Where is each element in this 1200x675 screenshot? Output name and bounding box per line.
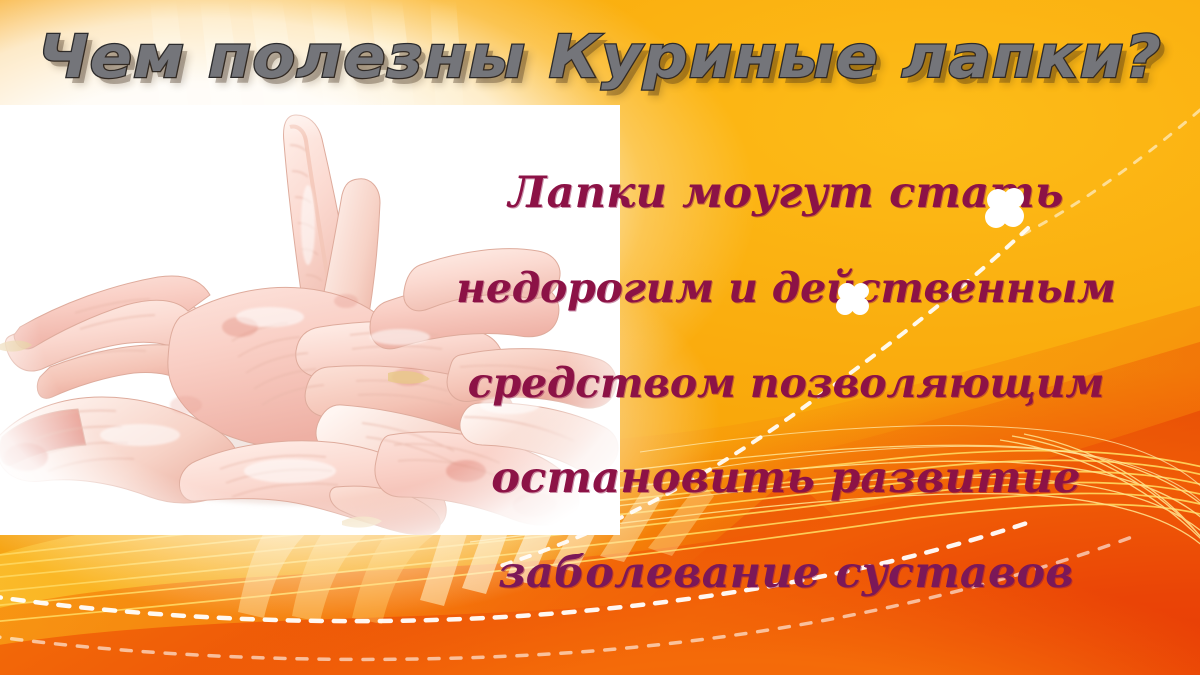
page-title: Чем полезны Куриные лапки?: [0, 22, 1200, 91]
photo-alt-text: Куриные лапки: [0, 0, 1, 1]
body-line-4: остановить развитие: [452, 431, 1120, 526]
body-line-2: недорогим и действенным: [452, 241, 1120, 336]
slide-canvas: Чем полезны Куриные лапки? Лапки моугут …: [0, 0, 1200, 675]
body-line-3: средством позволяющим: [452, 336, 1120, 431]
body-text-block: Лапки моугут стать недорогим и действенн…: [452, 146, 1120, 621]
body-line-5: заболевание суставов: [452, 526, 1120, 621]
body-line-1: Лапки моугут стать: [452, 146, 1120, 241]
